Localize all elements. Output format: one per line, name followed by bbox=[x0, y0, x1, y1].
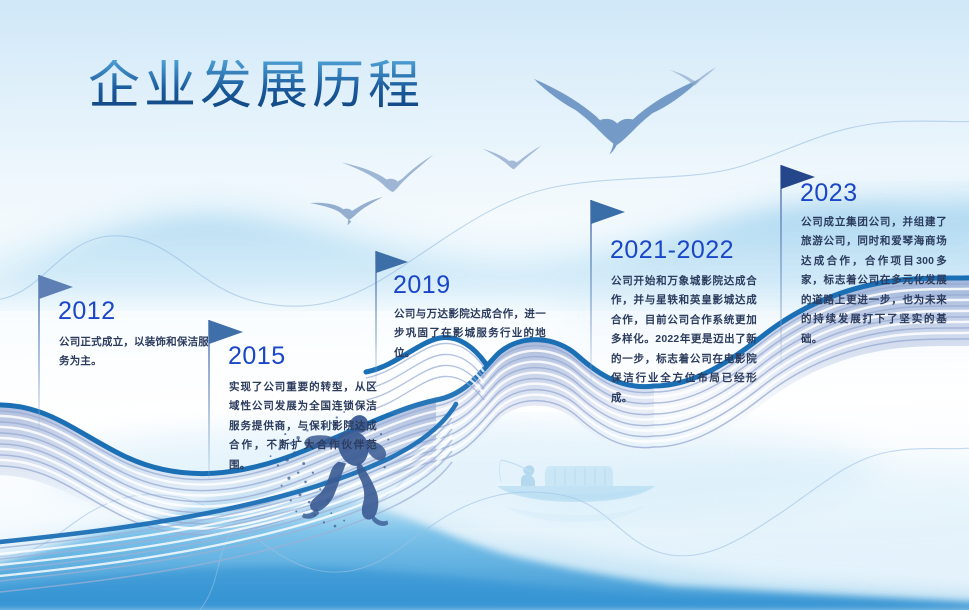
bird-icon bbox=[341, 155, 433, 192]
milestone-year: 2021-2022 bbox=[610, 238, 734, 263]
bird-icon bbox=[482, 145, 541, 169]
milestone-description: 实现了公司重要的转型，从区域性公司发展为全国连锁保洁服务提供商，与保利影院达成合… bbox=[229, 378, 377, 475]
bird-icon bbox=[669, 67, 716, 85]
bird-icon bbox=[310, 197, 383, 226]
page-title: 企业发展历程 bbox=[88, 60, 424, 112]
milestone-year: 2023 bbox=[800, 181, 858, 206]
milestone-year: 2015 bbox=[228, 344, 286, 369]
milestone-description: 公司与万达影院达成合作，进一步巩固了在影城服务行业的地位。 bbox=[394, 305, 546, 363]
flag-pole-icon bbox=[208, 320, 210, 480]
flag-icon bbox=[39, 275, 73, 299]
milestone-description: 公司开始和万象城影院达成合作，并与星轶和英皇影城达成合作，目前公司合作系统更加多… bbox=[611, 272, 757, 408]
flag-icon bbox=[376, 251, 408, 273]
milestone-description: 公司正式成立，以装饰和保洁服务为主。 bbox=[59, 333, 209, 372]
timeline-poster: 企业发展历程 2012 公司正式成立，以装饰和保洁服务为主。 2015 实现了公… bbox=[0, 0, 969, 610]
flag-pole-icon bbox=[780, 165, 782, 365]
milestone-year: 2019 bbox=[393, 273, 451, 298]
flag-icon bbox=[209, 320, 243, 344]
flag-pole-icon bbox=[590, 200, 592, 380]
flag-icon bbox=[591, 200, 625, 224]
bird-icon bbox=[533, 79, 701, 155]
milestone-description: 公司成立集团公司，并组建了旅游公司，同时和爱琴海商场达成合作，合作项目300多家… bbox=[801, 213, 947, 349]
milestone-year: 2012 bbox=[58, 299, 116, 324]
